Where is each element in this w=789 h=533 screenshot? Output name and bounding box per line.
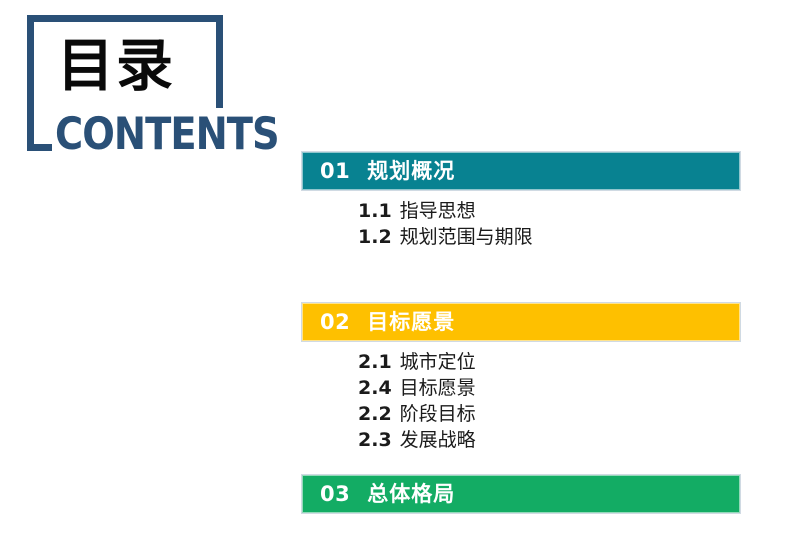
list-item[interactable]: 2.2阶段目标 [358, 401, 476, 427]
list-item[interactable]: 1.2规划范围与期限 [358, 224, 533, 250]
list-item[interactable]: 2.1城市定位 [358, 349, 476, 375]
section-number-03: 03 [320, 484, 350, 505]
section-header-bar-03[interactable]: 03 总体格局 [302, 475, 740, 513]
sub-item-number: 2.1 [358, 351, 392, 373]
section-number-01: 01 [320, 161, 350, 182]
sub-item-label: 城市定位 [400, 351, 476, 373]
sub-item-number: 2.3 [358, 429, 392, 451]
section-title-03: 总体格局 [367, 484, 455, 505]
sub-item-number: 1.2 [358, 226, 392, 248]
page-title-chinese: 目录 [57, 38, 175, 95]
section-01-item-list: 1.1指导思想 1.2规划范围与期限 [358, 198, 533, 250]
toc-section-02: 02 目标愿景 2.1城市定位 2.4目标愿景 2.2阶段目标 2.3发展战略 [302, 303, 740, 341]
sub-item-number: 1.1 [358, 200, 392, 222]
sub-item-label: 指导思想 [400, 200, 476, 222]
sub-item-label: 发展战略 [400, 429, 476, 451]
toc-section-01: 01 规划概况 1.1指导思想 1.2规划范围与期限 [302, 152, 740, 190]
section-header-bar-01[interactable]: 01 规划概况 [302, 152, 740, 190]
section-02-item-list: 2.1城市定位 2.4目标愿景 2.2阶段目标 2.3发展战略 [358, 349, 476, 453]
list-item[interactable]: 2.3发展战略 [358, 427, 476, 453]
bracket-frame-bottom-segment [27, 144, 52, 151]
sub-item-label: 阶段目标 [400, 403, 476, 425]
section-header-bar-02[interactable]: 02 目标愿景 [302, 303, 740, 341]
bracket-frame-top-segment [27, 15, 223, 22]
section-number-02: 02 [320, 312, 350, 333]
sub-item-label: 规划范围与期限 [400, 226, 533, 248]
sub-item-label: 目标愿景 [400, 377, 476, 399]
list-item[interactable]: 1.1指导思想 [358, 198, 533, 224]
sub-item-number: 2.2 [358, 403, 392, 425]
toc-section-03: 03 总体格局 [302, 475, 740, 513]
bracket-frame-right-segment [216, 15, 223, 108]
list-item[interactable]: 2.4目标愿景 [358, 375, 476, 401]
page-title-english: CONTENTS [55, 112, 279, 157]
bracket-frame-left-segment [27, 15, 34, 151]
title-block: 目录 CONTENTS [0, 0, 300, 180]
section-title-01: 规划概况 [367, 161, 455, 182]
table-of-contents: 01 规划概况 1.1指导思想 1.2规划范围与期限 02 目标愿景 2.1城市… [302, 0, 742, 533]
sub-item-number: 2.4 [358, 377, 392, 399]
section-title-02: 目标愿景 [367, 312, 455, 333]
